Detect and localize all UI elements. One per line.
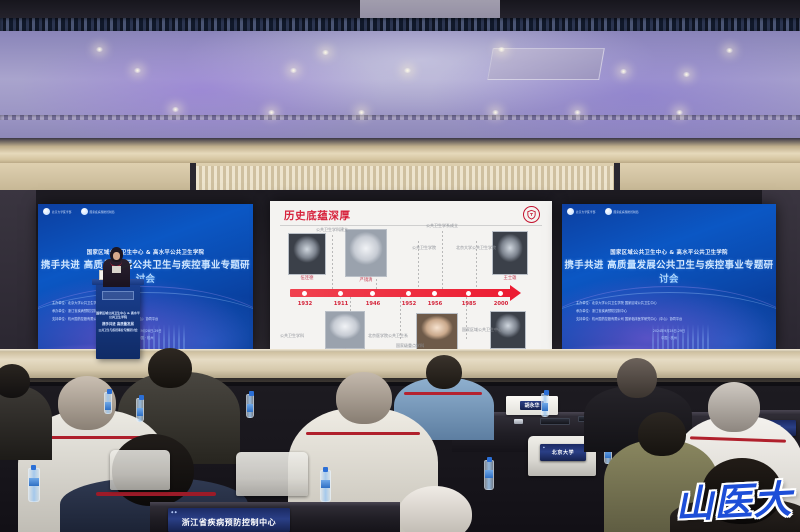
person-lanyard — [404, 392, 482, 395]
person-head — [426, 355, 462, 389]
person-head — [148, 348, 192, 388]
pku-logo-icon — [43, 208, 50, 215]
placard-name: 浙江省疾病预防控制中心 — [182, 517, 277, 528]
logo-pku: 北京大学医学部 — [567, 208, 596, 215]
timeline-tick — [332, 235, 333, 289]
slide-portrait: 伍连德 — [288, 233, 326, 275]
logo-label: 国家疾病预防控制局 — [90, 210, 115, 214]
ceiling-downlight — [676, 110, 683, 115]
portrait-caption: 王士雄 — [493, 275, 527, 281]
podium-logo-plate — [102, 291, 134, 300]
ceiling-cove-trim — [0, 138, 800, 166]
screen-logo-row: 北京大学医学部 国家疾病预防控制局 — [567, 208, 639, 215]
ceiling-downlight — [620, 69, 627, 74]
podium-banner-title2: 公共卫生与疾控事业专题研讨会 — [96, 328, 140, 332]
timeline-note: 北京医学院公共卫生系 — [368, 333, 408, 339]
timeline-note: 公共卫生学系成立 — [426, 223, 458, 229]
cdc-logo-icon — [81, 208, 88, 215]
timeline-arrow-icon — [510, 285, 521, 301]
bottle-label — [247, 404, 253, 412]
timeline-year: 1952 — [402, 301, 416, 307]
logo-label: 北京大学医学部 — [576, 210, 596, 214]
water-bottle — [320, 470, 331, 502]
timeline-axis — [290, 289, 512, 297]
person-head — [638, 412, 686, 456]
water-bottle — [541, 393, 549, 417]
banner-subtitle: 国家区域公共卫生中心 & 高水平公共卫生学院 — [38, 248, 253, 256]
timeline-note: 公共卫生学院 — [412, 245, 436, 251]
timeline-dot — [466, 291, 471, 296]
ceiling-light-strip-front — [0, 18, 800, 31]
timeline-dot — [498, 291, 503, 296]
timeline-year: 1946 — [366, 301, 380, 307]
slide-portrait: 王士雄 — [492, 231, 528, 275]
timeline-dot — [370, 291, 375, 296]
pku-logo-icon — [567, 208, 574, 215]
logo-label: 国家疾病预防控制局 — [614, 210, 639, 214]
bottle-label — [485, 470, 493, 478]
person-head — [336, 372, 392, 424]
timeline-tick — [442, 231, 443, 289]
ceiling-downlight — [683, 72, 690, 77]
banner-subtitle: 国家区域公共卫生中心 & 高水平公共卫生学院 — [562, 248, 776, 256]
ceiling-downlight — [726, 48, 733, 53]
logo-cdc: 国家疾病预防控制局 — [605, 208, 639, 215]
person-head — [0, 364, 30, 398]
slide-portrait: 苏德隆 — [325, 311, 365, 349]
placard-logo-icon: ◆ ◆ — [171, 510, 177, 514]
water-bottle — [104, 392, 112, 414]
timeline-year: 2000 — [494, 301, 508, 307]
timeline-note: 公共卫生学科 — [280, 333, 304, 339]
timeline-note: 国家区域公共卫生中心 — [462, 327, 502, 333]
portrait-caption: 伍连德 — [289, 275, 325, 281]
bottle-label — [29, 478, 39, 486]
bottle-label — [542, 403, 548, 411]
podium-banner-sub: 国家区域公共卫生中心 & 高水平公共卫生学院 — [96, 311, 140, 319]
placard-peking-university: ◆ 北京大学 — [540, 444, 586, 461]
banner-glow-decor — [38, 300, 253, 350]
slide-title: 历史底蕴深厚 — [284, 208, 351, 223]
ceiling — [0, 0, 800, 165]
water-bottle — [246, 394, 254, 418]
water-bottle — [28, 468, 40, 502]
placard-logo-icon: ◆ — [543, 446, 545, 449]
ceiling-downlight — [574, 110, 581, 115]
placard-name: 北京大学 — [552, 449, 574, 456]
podium: 国家区域公共卫生中心 & 高水平公共卫生学院 携手共进 高质量发展 公共卫生与疾… — [96, 283, 140, 359]
placard-zhejiang-cdc: ◆ ◆ 浙江省疾病预防控制中心 — [168, 508, 290, 532]
timeline-year: 1911 — [334, 301, 348, 307]
water-bottle — [484, 460, 494, 490]
ceiling-downlight — [404, 68, 411, 73]
banner-title: 携手共进 高质量发展公共卫生与疾控事业专题研讨会 — [562, 257, 776, 285]
logo-pku: 北京大学医学部 — [43, 208, 72, 215]
placard-hu-yonghua: 胡永华 — [506, 396, 558, 415]
water-bottle — [136, 398, 144, 422]
ceiling-downlight — [268, 110, 275, 115]
center-projection-screen: 历史底蕴深厚 伍连德 严镜清 王士雄 — [270, 201, 552, 353]
bottle-label — [321, 480, 330, 488]
bottle-label — [137, 408, 143, 416]
left-projection-screen: 北京大学医学部 国家疾病预防控制局 国家区域公共卫生中心 & 高水平公共卫生学院… — [38, 204, 253, 350]
slide-portrait: 严镜清 — [345, 229, 387, 277]
logo-label: 北京大学医学部 — [52, 210, 72, 214]
person-lanyard — [306, 432, 420, 435]
speaker-badge — [112, 266, 121, 273]
timeline-dot — [432, 291, 437, 296]
mobile-phone — [514, 419, 523, 424]
timeline-dot — [302, 291, 307, 296]
ceiling-downlight — [134, 68, 141, 73]
right-projection-screen: 北京大学医学部 国家疾病预防控制局 国家区域公共卫生中心 & 高水平公共卫生学院… — [562, 204, 776, 350]
person-head — [708, 382, 760, 432]
ceiling-downlight — [498, 47, 505, 52]
banner-title: 携手共进 高质量发展公共卫生与疾控事业专题研讨会 — [38, 257, 253, 285]
wall-slat-panel — [196, 166, 616, 190]
timeline-dot — [338, 291, 343, 296]
speaker-face — [113, 252, 120, 260]
ceiling-downlight — [290, 68, 297, 73]
watermark-logo: 山医大 — [674, 468, 794, 529]
person-collar — [96, 492, 216, 496]
tabletop-device — [540, 418, 570, 425]
back-wall-panel-left — [0, 190, 36, 365]
table-surface — [150, 502, 400, 507]
ceiling-light-strip-mid — [0, 115, 800, 120]
podium-banner-title: 携手共进 高质量发展 — [96, 321, 140, 326]
timeline-note: 北京大学公共卫生学院 — [456, 245, 496, 251]
chair — [110, 450, 170, 490]
slide-title-rule — [280, 225, 542, 226]
university-emblem-icon — [523, 206, 540, 223]
ceiling-downlight — [96, 47, 103, 52]
portrait-caption: 严镜清 — [346, 277, 386, 283]
ceiling-downlight — [358, 110, 365, 115]
logo-cdc: 国家疾病预防控制局 — [81, 208, 115, 215]
chair — [236, 452, 308, 496]
timeline-year: 1956 — [428, 301, 442, 307]
person-head — [617, 358, 657, 398]
timeline-year: 1932 — [298, 301, 312, 307]
screen-logo-row: 北京大学医学部 国家疾病预防控制局 — [43, 208, 115, 215]
banner-glow-decor — [562, 300, 776, 350]
ceiling-downlight — [172, 107, 179, 112]
cdc-logo-icon — [605, 208, 612, 215]
bottle-label — [105, 402, 111, 410]
timeline-note: 公共卫生学科建立 — [316, 227, 348, 233]
conference-hall-photo: 北京大学医学部 国家疾病预防控制局 国家区域公共卫生中心 & 高水平公共卫生学院… — [0, 0, 800, 532]
ceiling-air-vent — [487, 48, 605, 80]
timeline-year: 1985 — [462, 301, 476, 307]
timeline-dot — [406, 291, 411, 296]
ceiling-downlight — [492, 110, 499, 115]
ceiling-downlight — [322, 50, 329, 55]
